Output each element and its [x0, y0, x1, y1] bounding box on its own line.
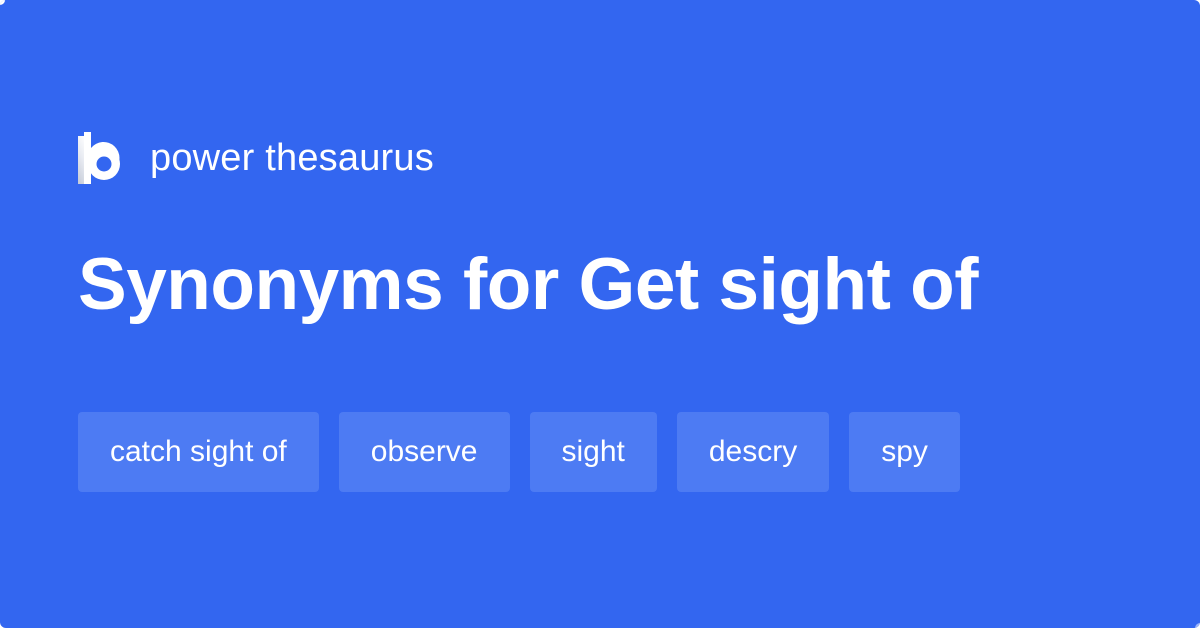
synonym-chip[interactable]: spy — [849, 412, 960, 492]
synonym-chip[interactable]: observe — [339, 412, 510, 492]
brand-logo[interactable]: power thesaurus — [78, 128, 434, 188]
synonym-chip-list: catch sight of observe sight descry spy — [78, 412, 960, 492]
corner-artifact-top-left — [0, 0, 5, 5]
power-thesaurus-b-logo-icon — [78, 132, 124, 184]
brand-name: power thesaurus — [150, 139, 434, 177]
synonym-chip[interactable]: descry — [677, 412, 829, 492]
og-card: power thesaurus Synonyms for Get sight o… — [0, 0, 1200, 628]
page-title: Synonyms for Get sight of — [78, 246, 1124, 325]
synonym-chip[interactable]: sight — [530, 412, 657, 492]
corner-artifact-bottom-right — [1195, 623, 1200, 628]
synonym-chip[interactable]: catch sight of — [78, 412, 319, 492]
